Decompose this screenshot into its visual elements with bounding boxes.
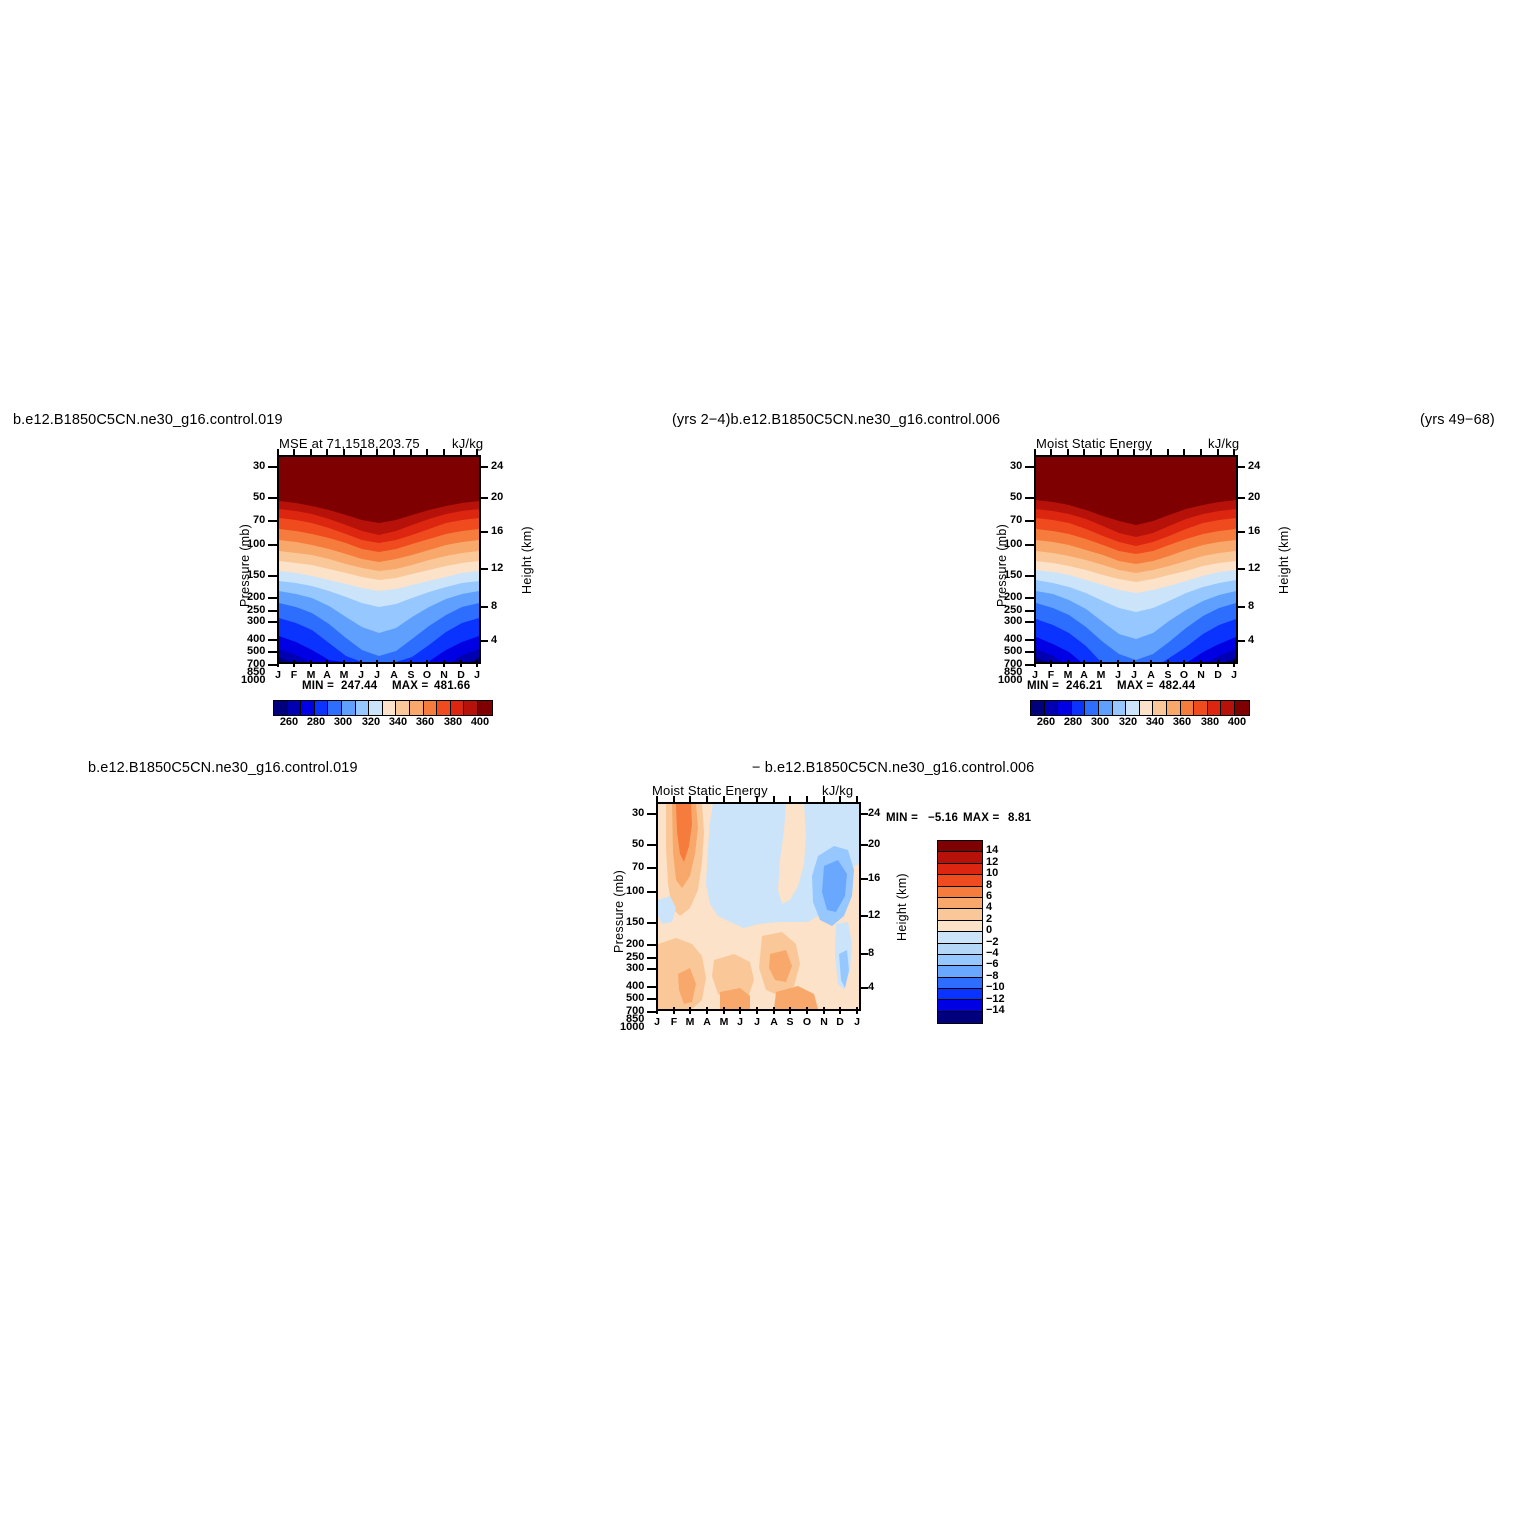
- panel-2-y2tick-0: 24: [1248, 460, 1260, 472]
- panel-3-xtick-2: M: [682, 1016, 698, 1028]
- colorbar-swatch: [1085, 701, 1099, 715]
- colorbar-tick-label: −14: [986, 1004, 1005, 1016]
- colorbar-swatch: [938, 955, 982, 966]
- panel-1-ytick-9: 500: [247, 645, 265, 657]
- panel-1-xtick-1: F: [286, 669, 302, 681]
- colorbar-swatch: [315, 701, 329, 715]
- panel-3-y-axis-title: Pressure (mb): [612, 870, 626, 953]
- panel-1-y2tick-mark: [479, 497, 488, 499]
- colorbar-swatch: [938, 841, 982, 852]
- panel-1-title: MSE at 71,1518,203.75: [279, 436, 420, 451]
- panel-2-run-header: (yrs 2−4)b.e12.B1850C5CN.ne30_g16.contro…: [672, 412, 1000, 428]
- panel-1-max-label: MAX =: [392, 680, 428, 692]
- panel-3-ytick-1: 50: [632, 838, 644, 850]
- panel-2-ytick-3: 100: [1004, 538, 1022, 550]
- colorbar-tick-label: 0: [986, 924, 992, 936]
- panel-3-ytick-7: 300: [626, 962, 644, 974]
- colorbar-swatch: [938, 909, 982, 920]
- panel-2-max-value: 482.44: [1159, 680, 1195, 692]
- panel-3-colorbar[interactable]: [937, 840, 983, 1024]
- colorbar-swatch: [437, 701, 451, 715]
- panel-3-xtick-11: D: [832, 1016, 848, 1028]
- colorbar-swatch: [288, 701, 302, 715]
- panel-2-y2tick-3: 12: [1248, 562, 1260, 574]
- panel-3-ytick-2: 70: [632, 861, 644, 873]
- colorbar-swatch: [451, 701, 465, 715]
- panel-3-xtick-12: J: [849, 1016, 865, 1028]
- colorbar-swatch: [938, 966, 982, 977]
- panel-3-y2tick-3: 12: [868, 909, 880, 921]
- panel-1-ytick-4: 150: [247, 569, 265, 581]
- panel-3-xtick-7: A: [766, 1016, 782, 1028]
- colorbar-swatch: [410, 701, 424, 715]
- colorbar-swatch: [1099, 701, 1113, 715]
- panel-3-ytick-12: 1000: [620, 1021, 644, 1033]
- colorbar-swatch: [1235, 701, 1249, 715]
- panel-3-max-label: MAX =: [963, 812, 999, 824]
- panel-1-ytick-12: 1000: [241, 674, 265, 686]
- panel-1-ytick-mark: [268, 664, 277, 666]
- colorbar-tick-label: 4: [986, 901, 992, 913]
- panel-3-xtick-4: M: [716, 1016, 732, 1028]
- colorbar-swatch: [1113, 701, 1127, 715]
- colorbar-swatch: [328, 701, 342, 715]
- colorbar-tick-label: 10: [986, 867, 998, 879]
- panel-1-ytick-mark: [268, 610, 277, 612]
- panel-3-units: kJ/kg: [822, 783, 853, 798]
- colorbar-swatch: [938, 1000, 982, 1011]
- panel-1-y2tick-3: 12: [491, 562, 503, 574]
- panel-1-y2tick-mark: [479, 606, 488, 608]
- panel-1-ytick-mark: [268, 639, 277, 641]
- panel-2-ytick-2: 70: [1010, 514, 1022, 526]
- panel-2-ytick-5: 200: [1004, 591, 1022, 603]
- panel-1-ytick-mark: [268, 466, 277, 468]
- colorbar-swatch: [383, 701, 397, 715]
- panel-3-contour-field: [658, 804, 859, 1009]
- panel-3-xtick-1: F: [666, 1016, 682, 1028]
- panel-1-colorbar[interactable]: [273, 700, 493, 716]
- panel-1-ytick-2: 70: [253, 514, 265, 526]
- panel-3-y2tick-0: 24: [868, 807, 880, 819]
- panel-3-ytick-8: 400: [626, 980, 644, 992]
- colorbar-swatch: [1221, 701, 1235, 715]
- panel-3-ytick-0: 30: [632, 807, 644, 819]
- panel-1-ytick-5: 200: [247, 591, 265, 603]
- colorbar-tick-label: −8: [986, 970, 999, 982]
- panel-2-y2tick-1: 20: [1248, 491, 1260, 503]
- panel-1-ytick-mark: [268, 544, 277, 546]
- panel-3-xtick-10: N: [816, 1016, 832, 1028]
- colorbar-swatch: [938, 1012, 982, 1023]
- colorbar-swatch: [342, 701, 356, 715]
- panel-3-y2tick-1: 20: [868, 838, 880, 850]
- panel-1-y2-axis-title: Height (km): [520, 526, 534, 594]
- panel-2-ytick-4: 150: [1004, 569, 1022, 581]
- colorbar-swatch: [938, 875, 982, 886]
- colorbar-tick-label: 14: [986, 844, 998, 856]
- colorbar-tick-label: −12: [986, 993, 1005, 1005]
- panel-2-ytick-0: 30: [1010, 460, 1022, 472]
- colorbar-swatch: [396, 701, 410, 715]
- panel-2-ytick-8: 400: [1004, 633, 1022, 645]
- panel-2-ytick-1: 50: [1010, 491, 1022, 503]
- panel-3-run-header-left: b.e12.B1850C5CN.ne30_g16.control.019: [88, 760, 358, 776]
- colorbar-swatch: [938, 921, 982, 932]
- colorbar-tick-label: −4: [986, 947, 999, 959]
- panel-3-xtick-8: S: [782, 1016, 798, 1028]
- panel-1-y2tick-5: 4: [491, 634, 497, 646]
- panel-2-xtick-12: J: [1226, 669, 1242, 681]
- panel-3-y2tick-2: 16: [868, 872, 880, 884]
- panel-1-ytick-7: 300: [247, 615, 265, 627]
- panel-1-y2tick-mark: [479, 568, 488, 570]
- colorbar-tick-label: −2: [986, 936, 999, 948]
- panel-1-ytick-mark: [268, 621, 277, 623]
- colorbar-swatch: [478, 701, 492, 715]
- colorbar-swatch: [1031, 701, 1045, 715]
- panel-1-ytick-mark: [268, 597, 277, 599]
- panel-2-xtick-11: D: [1210, 669, 1226, 681]
- colorbar-swatch: [938, 978, 982, 989]
- colorbar-tick-label: −6: [986, 958, 999, 970]
- panel-2-ytick-9: 500: [1004, 645, 1022, 657]
- panel-2-min-value: 246.21: [1066, 680, 1102, 692]
- colorbar-swatch: [356, 701, 370, 715]
- colorbar-swatch: [1058, 701, 1072, 715]
- colorbar-swatch: [464, 701, 478, 715]
- colorbar-tick-label: 8: [986, 879, 992, 891]
- panel-2-years-header: (yrs 49−68): [1420, 412, 1495, 428]
- panel-1-cb-label-7: 400: [463, 716, 497, 728]
- panel-3-plot-area[interactable]: [656, 802, 861, 1011]
- colorbar-swatch: [1153, 701, 1167, 715]
- panel-1-y2tick-2: 16: [491, 525, 503, 537]
- panel-1-ytick-mark: [268, 575, 277, 577]
- panel-2-plot-area[interactable]: [1034, 455, 1238, 664]
- colorbar-swatch: [1167, 701, 1181, 715]
- panel-3-xtick-0: J: [649, 1016, 665, 1028]
- colorbar-swatch: [938, 852, 982, 863]
- panel-1-ytick-mark: [268, 651, 277, 653]
- panel-2-y2tick-5: 4: [1248, 634, 1254, 646]
- colorbar-tick-label: 12: [986, 856, 998, 868]
- panel-1-ytick-mark: [268, 497, 277, 499]
- panel-1-xtick-0: J: [270, 669, 286, 681]
- panel-1-contour-field: [279, 457, 479, 662]
- panel-3-xtick-9: O: [799, 1016, 815, 1028]
- panel-1-y2tick-0: 24: [491, 460, 503, 472]
- panel-1-min-label: MIN =: [302, 680, 334, 692]
- panel-3-y2tick-4: 8: [868, 947, 874, 959]
- panel-3-max-value: 8.81: [1008, 812, 1031, 824]
- panel-2-contour-field: [1036, 457, 1236, 662]
- panel-1-y2tick-mark: [479, 531, 488, 533]
- colorbar-tick-label: 6: [986, 890, 992, 902]
- panel-2-xtick-10: N: [1193, 669, 1209, 681]
- panel-1-ytick-8: 400: [247, 633, 265, 645]
- panel-2-min-label: MIN =: [1027, 680, 1059, 692]
- panel-3-min-value: −5.16: [928, 812, 958, 824]
- colorbar-swatch: [424, 701, 438, 715]
- panel-1-units: kJ/kg: [452, 436, 483, 451]
- colorbar-swatch: [1208, 701, 1222, 715]
- panel-2-ytick-12: 1000: [998, 674, 1022, 686]
- panel-3-run-header-right: − b.e12.B1850C5CN.ne30_g16.control.006: [752, 760, 1034, 776]
- panel-1-plot-area[interactable]: [277, 455, 481, 664]
- colorbar-swatch: [1045, 701, 1059, 715]
- colorbar-swatch: [301, 701, 315, 715]
- colorbar-swatch: [938, 887, 982, 898]
- panel-1-y2tick-4: 8: [491, 600, 497, 612]
- colorbar-swatch: [1140, 701, 1154, 715]
- colorbar-swatch: [274, 701, 288, 715]
- panel-3-ytick-3: 100: [626, 885, 644, 897]
- panel-3-ytick-9: 500: [626, 992, 644, 1004]
- panel-1-ytick-3: 100: [247, 538, 265, 550]
- colorbar-swatch: [1194, 701, 1208, 715]
- colorbar-swatch: [1126, 701, 1140, 715]
- panel-2-max-label: MAX =: [1117, 680, 1153, 692]
- panel-1-run-header: b.e12.B1850C5CN.ne30_g16.control.019: [13, 412, 283, 428]
- colorbar-swatch: [369, 701, 383, 715]
- colorbar-swatch: [938, 864, 982, 875]
- panel-3-y2-axis-title: Height (km): [895, 873, 909, 941]
- panel-3-xtick-5: J: [732, 1016, 748, 1028]
- colorbar-swatch: [938, 898, 982, 909]
- panel-1-y2tick-mark: [479, 466, 488, 468]
- panel-3-min-label: MIN =: [886, 812, 918, 824]
- panel-2-ytick-7: 300: [1004, 615, 1022, 627]
- panel-1-ytick-0: 30: [253, 460, 265, 472]
- panel-2-y2tick-4: 8: [1248, 600, 1254, 612]
- panel-3-xtick-6: J: [749, 1016, 765, 1028]
- panel-3-ytick-5: 200: [626, 938, 644, 950]
- panel-1-max-value: 481.66: [434, 680, 470, 692]
- colorbar-swatch: [1181, 701, 1195, 715]
- panel-1-ytick-mark: [268, 520, 277, 522]
- panel-1-y2tick-mark: [479, 640, 488, 642]
- panel-2-colorbar[interactable]: [1030, 700, 1250, 716]
- panel-3-xtick-3: A: [699, 1016, 715, 1028]
- colorbar-swatch: [938, 989, 982, 1000]
- panel-1-min-value: 247.44: [341, 680, 377, 692]
- colorbar-swatch: [1072, 701, 1086, 715]
- panel-2-cb-label-7: 400: [1220, 716, 1254, 728]
- panel-1-xtick-12: J: [469, 669, 485, 681]
- panel-3-y2tick-5: 4: [868, 981, 874, 993]
- panel-1-ytick-1: 50: [253, 491, 265, 503]
- panel-1-y2tick-1: 20: [491, 491, 503, 503]
- panel-2-y2tick-2: 16: [1248, 525, 1260, 537]
- panel-2-y2-axis-title: Height (km): [1277, 526, 1291, 594]
- colorbar-swatch: [938, 932, 982, 943]
- panel-3-title: Moist Static Energy: [652, 783, 768, 798]
- colorbar-tick-label: 2: [986, 913, 992, 925]
- colorbar-tick-label: −10: [986, 981, 1005, 993]
- colorbar-swatch: [938, 944, 982, 955]
- panel-3-ytick-4: 150: [626, 916, 644, 928]
